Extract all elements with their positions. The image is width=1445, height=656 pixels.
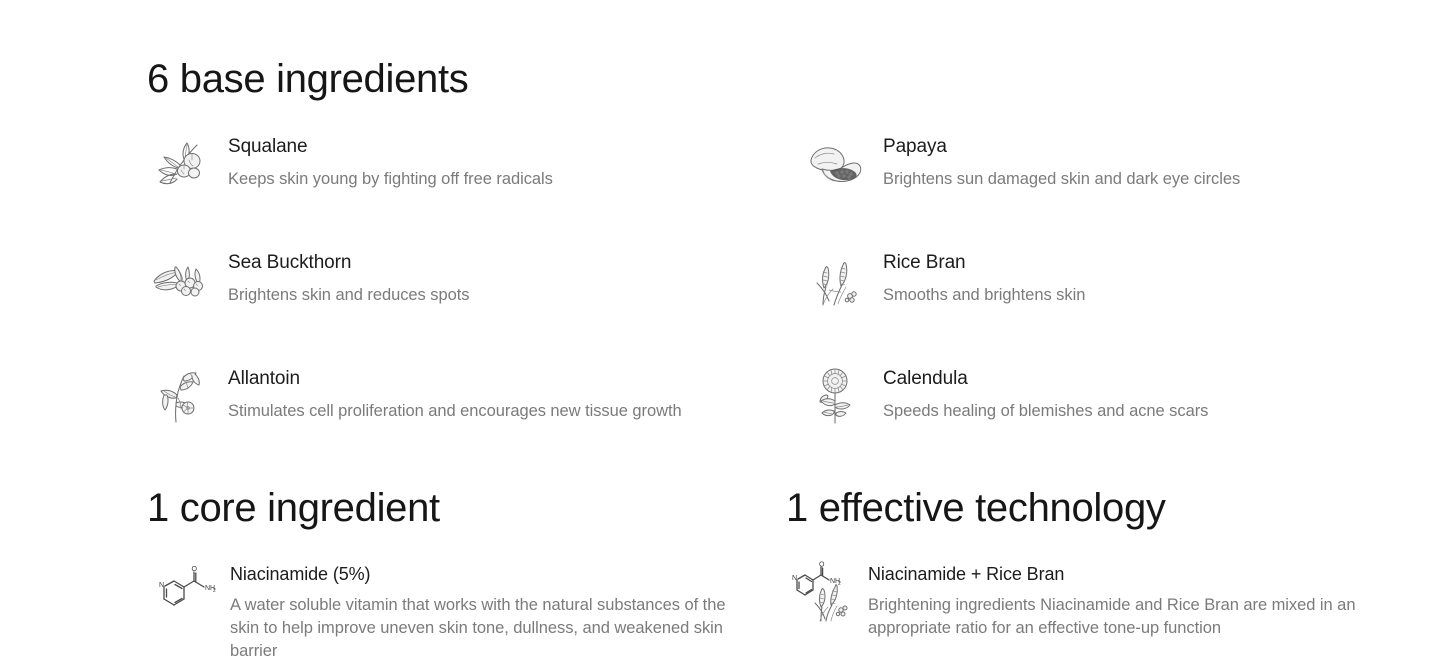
ingredient-text-niacinamide: Niacinamide (5%) A water soluble vitamin… — [230, 561, 735, 656]
ingredient-item-calendula: Calendula Speeds healing of blemishes an… — [805, 365, 1208, 427]
ingredient-text-papaya: Papaya Brightens sun damaged skin and da… — [883, 133, 1240, 190]
comfrey-flower-icon — [150, 365, 210, 427]
ingredients-page: 6 base ingredients — [0, 0, 1445, 656]
sea-buckthorn-icon — [150, 249, 210, 311]
ingredient-item-niacinamide-rice-bran: N O NH 2 — [788, 561, 1363, 640]
papaya-icon — [805, 133, 865, 195]
ingredient-title: Niacinamide + Rice Bran — [868, 563, 1363, 586]
ingredient-text-sea-buckthorn: Sea Buckthorn Brightens skin and reduces… — [228, 249, 469, 306]
ingredient-item-allantoin: Allantoin Stimulates cell proliferation … — [150, 365, 682, 427]
niacinamide-molecule-icon: N O NH 2 — [150, 561, 216, 625]
molecule-amine-subscript: 2 — [838, 581, 841, 587]
molecule-oxygen-label: O — [192, 566, 198, 573]
ingredient-title: Calendula — [883, 367, 1208, 391]
niacinamide-rice-bran-icon: N O NH 2 — [788, 561, 854, 625]
ingredient-text-calendula: Calendula Speeds healing of blemishes an… — [883, 365, 1208, 422]
ingredient-item-niacinamide: N O NH 2 Niacinamide (5%) A water solubl… — [150, 561, 735, 656]
ingredient-title: Niacinamide (5%) — [230, 563, 735, 586]
ingredient-description: Brightens sun damaged skin and dark eye … — [883, 168, 1240, 190]
ingredient-item-squalane: Squalane Keeps skin young by fighting of… — [150, 133, 553, 195]
molecule-nitrogen-label: N — [159, 582, 164, 589]
ingredient-description: Stimulates cell proliferation and encour… — [228, 400, 682, 422]
ingredient-description: A water soluble vitamin that works with … — [230, 594, 735, 656]
ingredient-description: Speeds healing of blemishes and acne sca… — [883, 400, 1208, 422]
ingredient-title: Papaya — [883, 135, 1240, 159]
ingredient-item-rice-bran: Rice Bran Smooths and brightens skin — [805, 249, 1085, 311]
molecule-amine-subscript: 2 — [213, 588, 216, 594]
ingredient-title: Rice Bran — [883, 251, 1085, 275]
calendula-flower-icon — [805, 365, 865, 427]
ingredient-description: Keeps skin young by fighting off free ra… — [228, 168, 553, 190]
ingredient-text-niacinamide-rice-bran: Niacinamide + Rice Bran Brightening ingr… — [868, 561, 1363, 640]
section-heading-base-ingredients: 6 base ingredients — [147, 57, 469, 101]
molecule-oxygen-label: O — [819, 562, 825, 569]
ingredient-description: Brightening ingredients Niacinamide and … — [868, 594, 1363, 641]
rice-bran-icon — [805, 249, 865, 311]
molecule-nitrogen-label: N — [792, 575, 797, 582]
ingredient-description: Brightens skin and reduces spots — [228, 284, 469, 306]
ingredient-text-allantoin: Allantoin Stimulates cell proliferation … — [228, 365, 682, 422]
section-heading-core-ingredient: 1 core ingredient — [147, 486, 440, 530]
ingredient-item-papaya: Papaya Brightens sun damaged skin and da… — [805, 133, 1240, 195]
olive-branch-icon — [150, 133, 210, 195]
ingredient-item-sea-buckthorn: Sea Buckthorn Brightens skin and reduces… — [150, 249, 469, 311]
ingredient-title: Allantoin — [228, 367, 682, 391]
ingredient-title: Squalane — [228, 135, 553, 159]
section-heading-effective-technology: 1 effective technology — [786, 486, 1166, 530]
ingredient-description: Smooths and brightens skin — [883, 284, 1085, 306]
ingredient-text-squalane: Squalane Keeps skin young by fighting of… — [228, 133, 553, 190]
rice-stalk-group — [815, 585, 847, 621]
ingredient-text-rice-bran: Rice Bran Smooths and brightens skin — [883, 249, 1085, 306]
ingredient-title: Sea Buckthorn — [228, 251, 469, 275]
